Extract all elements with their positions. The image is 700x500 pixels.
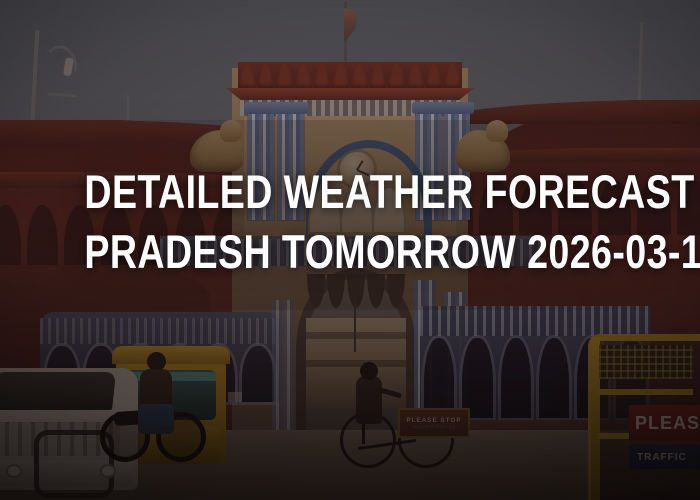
page-title: Detailed Weather Forecast for Uttar Prad…	[0, 162, 700, 282]
page-title-line-2: Pradesh Tomorrow 2026-03-17	[84, 222, 615, 282]
page-title-line-1: Detailed Weather Forecast for Uttar	[84, 162, 615, 222]
hero-banner: PLEASE STOP TRAFFIC POLICE PLEASE TRAFFI…	[0, 0, 700, 500]
